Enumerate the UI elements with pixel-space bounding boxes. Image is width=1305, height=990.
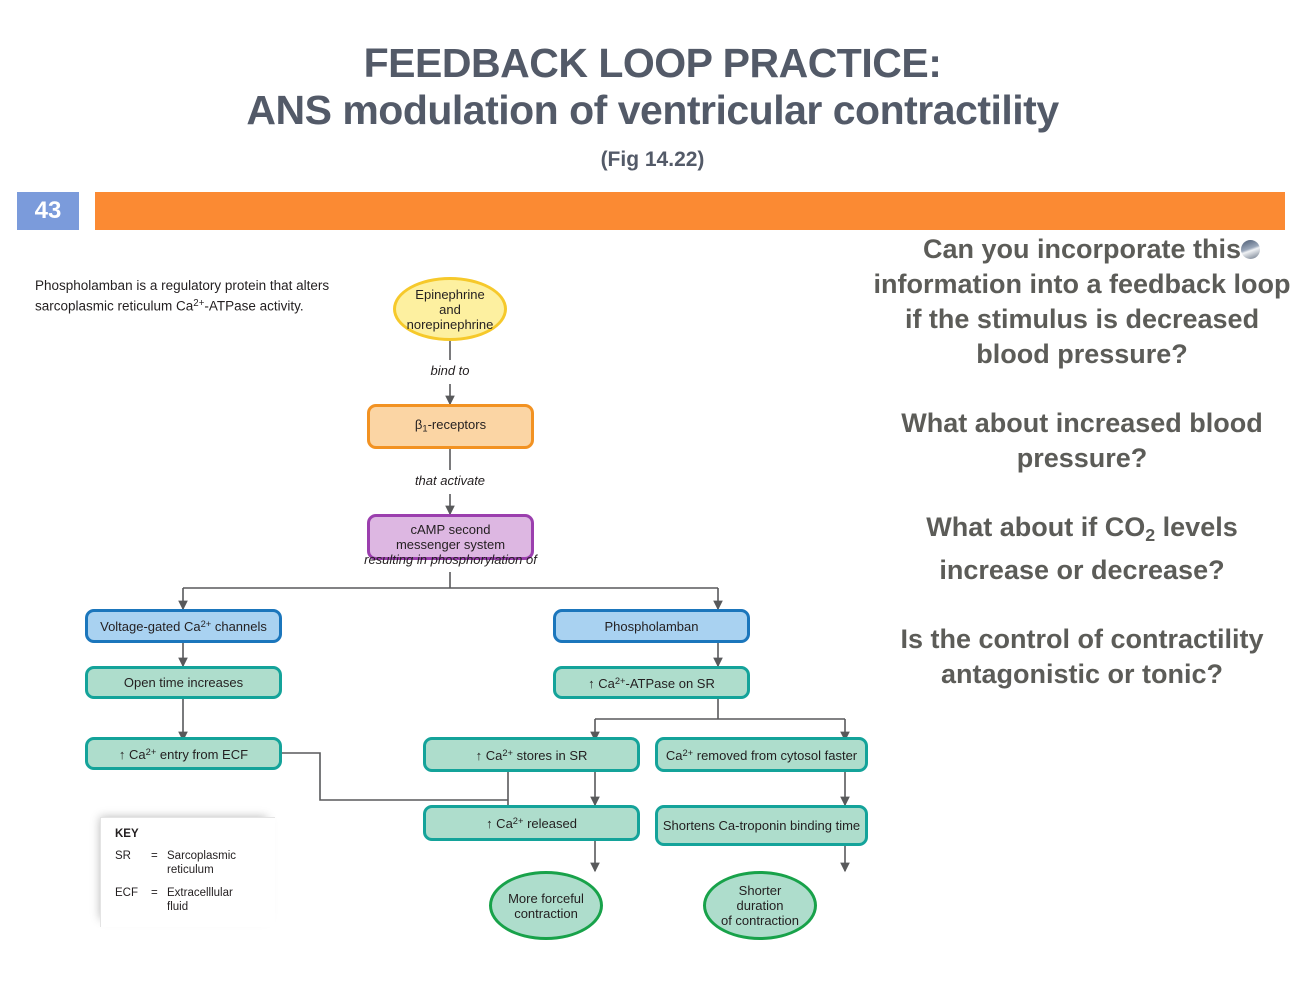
question-4: Is the control of contractility antagoni… [872,622,1292,692]
node-voltage-gated-ca-channels: Voltage-gated Ca2+ channels [85,609,282,643]
questions-panel: Can you incorporate this information int… [872,232,1292,718]
key-def-ecf: Extracelllularfluid [167,886,275,914]
question-3: What about if CO2 levels increase or dec… [872,510,1292,588]
question-2: What about increased blood pressure? [872,406,1292,476]
diagram-key: KEY SR = Sarcoplasmicreticulum ECF = Ext… [100,817,275,927]
edge-label-bind-to: bind to [414,363,486,378]
title-line-2: ANS modulation of ventricular contractil… [0,86,1305,134]
title-line-1: FEEDBACK LOOP PRACTICE: [0,40,1305,86]
node-beta1-receptors: β1-receptors [367,404,534,449]
node-ca-removed-from-cytosol: Ca2+ removed from cytosol faster [655,737,868,772]
key-def-sr: Sarcoplasmicreticulum [167,849,275,877]
node-epinephrine: Epinephrineandnorepinephrine [393,277,507,341]
title-subtitle: (Fig 14.22) [0,148,1305,172]
flow-diagram: Phospholamban is a regulatory protein th… [0,232,880,972]
phospholamban-note: Phospholamban is a regulatory protein th… [35,277,385,315]
node-ca-atpase-on-sr: ↑ Ca2+-ATPase on SR [553,666,750,699]
node-shorter-duration-of-contraction: Shorterdurationof contraction [703,871,817,940]
key-row-sr: SR = Sarcoplasmicreticulum [115,849,275,877]
slide-canvas: FEEDBACK LOOP PRACTICE: ANS modulation o… [0,0,1305,990]
key-abbr-ecf: ECF [115,886,151,914]
edge-label-resulting-in-phosphorylation: resulting in phosphorylation of [333,552,568,567]
key-row-ecf: ECF = Extracelllularfluid [115,886,275,914]
node-ca-released: ↑ Ca2+ released [423,805,640,841]
key-title: KEY [115,828,275,840]
node-open-time-increases: Open time increases [85,666,282,699]
key-abbr-sr: SR [115,849,151,877]
node-ca-entry-from-ecf: ↑ Ca2+ entry from ECF [85,737,282,770]
key-eq-sr: = [151,849,167,877]
key-eq-ecf: = [151,886,167,914]
accent-bar [95,192,1285,230]
question-1: Can you incorporate this information int… [872,232,1292,372]
node-ca-stores-in-sr: ↑ Ca2+ stores in SR [423,737,640,772]
node-phospholamban: Phospholamban [553,609,750,643]
node-shortens-ca-troponin-binding: Shortens Ca-troponin binding time [655,805,868,846]
slide-number-badge: 43 [17,192,79,230]
node-more-forceful-contraction: More forcefulcontraction [489,871,603,940]
page-title: FEEDBACK LOOP PRACTICE: ANS modulation o… [0,40,1305,134]
edge-label-that-activate: that activate [398,473,502,488]
